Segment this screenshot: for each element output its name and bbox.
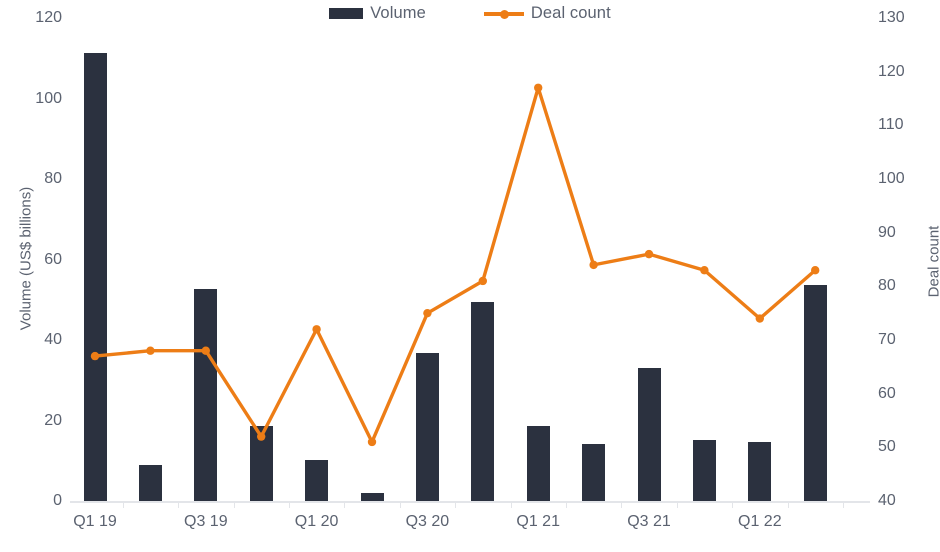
x-axis-tick-label-q1-20: Q1 20	[295, 513, 339, 531]
x-axis-tick-label-q3-19: Q3 19	[184, 513, 228, 531]
deal-count-marker-q1-21[interactable]	[534, 84, 542, 92]
y-axis-right-tick-label: 60	[878, 386, 924, 402]
line-series-layer	[70, 10, 870, 502]
x-axis-tick-mark	[289, 503, 290, 508]
x-axis-tick-mark	[344, 503, 345, 508]
y-axis-left-tick-label: 100	[16, 91, 62, 107]
y-axis-right-tick-label: 70	[878, 332, 924, 348]
x-axis-tick-mark	[677, 503, 678, 508]
deal-count-marker-q4-21[interactable]	[700, 266, 708, 274]
y-axis-right-tick-label: 110	[878, 117, 924, 133]
y-axis-right-tick-label: 50	[878, 439, 924, 455]
x-axis-tick-mark	[511, 503, 512, 508]
x-axis-tick-mark	[566, 503, 567, 508]
x-axis-tick-label-q3-20: Q3 20	[406, 513, 450, 531]
y-axis-right-ticks: 405060708090100110120130	[878, 0, 924, 552]
y-axis-right-tick-label: 120	[878, 64, 924, 80]
deal-count-marker-q3-19[interactable]	[202, 347, 210, 355]
x-axis-tick-label-q1-22: Q1 22	[738, 513, 782, 531]
x-axis-tick-mark	[400, 503, 401, 508]
y-axis-left-tick-label: 40	[16, 332, 62, 348]
x-axis-tick-mark	[178, 503, 179, 508]
deal-count-marker-q2-19[interactable]	[146, 347, 154, 355]
combo-chart: Volume Deal count Volume (US$ billions) …	[0, 0, 940, 552]
deal-count-marker-q2-20[interactable]	[368, 438, 376, 446]
x-axis-tick-mark	[123, 503, 124, 508]
x-axis-ticks: Q1 19Q3 19Q1 20Q3 20Q1 21Q3 21Q1 22	[0, 503, 940, 543]
x-axis-tick-mark	[732, 503, 733, 508]
x-axis-tick-label-q1-21: Q1 21	[516, 513, 560, 531]
x-axis-tick-mark	[455, 503, 456, 508]
y-axis-left-tick-label: 20	[16, 413, 62, 429]
x-axis-tick-mark	[788, 503, 789, 508]
y-axis-right-title: Deal count	[926, 162, 940, 362]
deal-count-marker-q2-21[interactable]	[589, 261, 597, 269]
deal-count-marker-q3-20[interactable]	[423, 309, 431, 317]
deal-count-marker-q2-22[interactable]	[811, 266, 819, 274]
x-axis-tick-mark	[843, 503, 844, 508]
x-axis-tick-mark	[621, 503, 622, 508]
y-axis-right-tick-label: 80	[878, 278, 924, 294]
deal-count-marker-q4-20[interactable]	[479, 277, 487, 285]
plot-area	[70, 10, 870, 502]
deal-count-line	[95, 88, 815, 442]
y-axis-right-tick-label: 90	[878, 225, 924, 241]
deal-count-marker-q1-22[interactable]	[756, 314, 764, 322]
y-axis-left-tick-label: 80	[16, 171, 62, 187]
deal-count-marker-q1-20[interactable]	[312, 325, 320, 333]
x-axis-tick-mark	[234, 503, 235, 508]
y-axis-left-tick-label: 60	[16, 252, 62, 268]
deal-count-marker-q3-21[interactable]	[645, 250, 653, 258]
deal-count-marker-q4-19[interactable]	[257, 432, 265, 440]
x-axis-tick-label-q3-21: Q3 21	[627, 513, 671, 531]
y-axis-left-tick-label: 120	[16, 10, 62, 26]
deal-count-marker-q1-19[interactable]	[91, 352, 99, 360]
y-axis-right-tick-label: 100	[878, 171, 924, 187]
y-axis-right-tick-label: 130	[878, 10, 924, 26]
y-axis-left-ticks: 020406080100120	[16, 0, 62, 552]
x-axis-tick-label-q1-19: Q1 19	[73, 513, 117, 531]
